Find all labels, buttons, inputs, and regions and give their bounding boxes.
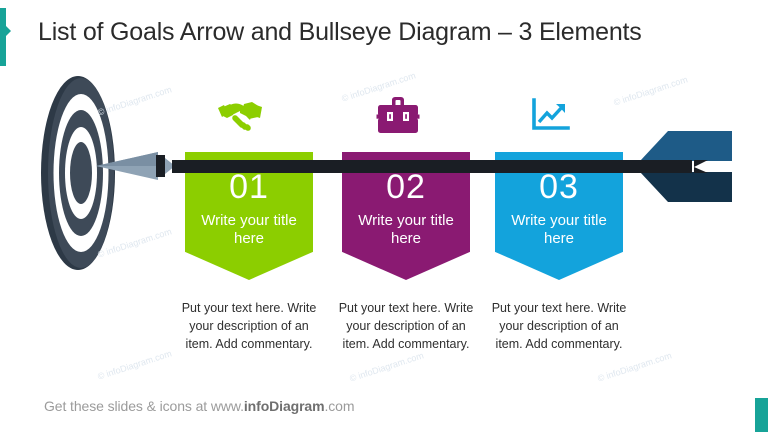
step-3-description: Put your text here. Write your descripti… [491, 299, 627, 353]
step-2-description: Put your text here. Write your descripti… [338, 299, 474, 353]
step-2-icon [370, 92, 426, 140]
watermark: © infoDiagram.com [348, 350, 424, 383]
step-1-description: Put your text here. Write your descripti… [181, 299, 317, 353]
step-1-icon [212, 92, 268, 140]
arrow-fletching-bottom-tip [640, 172, 668, 202]
footer-brand: infoDiagram [244, 398, 325, 414]
arrow-fletching-top-tip [640, 131, 668, 161]
target-bullseye-center [70, 142, 92, 204]
left-accent-notch-icon [6, 26, 11, 36]
step-1-number: 01 [185, 170, 313, 204]
step-3-title: Write your title here [495, 212, 623, 248]
footer-suffix: .com [324, 398, 354, 414]
footer-prefix: Get these slides & icons at www. [44, 398, 244, 414]
bottom-right-accent-bar [755, 398, 768, 432]
watermark: © infoDiagram.com [96, 348, 172, 381]
step-1-title: Write your title here [185, 212, 313, 248]
arrow-fletching-top [668, 131, 732, 161]
slide-canvas: List of Goals Arrow and Bullseye Diagram… [0, 0, 768, 432]
arrow-collar [156, 155, 165, 177]
arrow-head-shade [96, 152, 158, 166]
arrow-fletching-bottom [668, 172, 732, 202]
left-accent-bar [0, 8, 6, 66]
step-2-number: 02 [342, 170, 470, 204]
watermark: © infoDiagram.com [596, 350, 672, 383]
step-3-number: 03 [495, 170, 623, 204]
footer-text: Get these slides & icons at www.infoDiag… [44, 398, 354, 414]
step-3-icon [522, 92, 578, 140]
watermark: © infoDiagram.com [612, 74, 688, 107]
arrow-shaft [172, 160, 692, 173]
step-2-title: Write your title here [342, 212, 470, 248]
briefcase-icon [375, 96, 421, 136]
arrow-nock [694, 160, 708, 173]
growth-chart-icon [527, 96, 573, 136]
page-title: List of Goals Arrow and Bullseye Diagram… [38, 18, 642, 47]
handshake-icon [216, 96, 264, 136]
